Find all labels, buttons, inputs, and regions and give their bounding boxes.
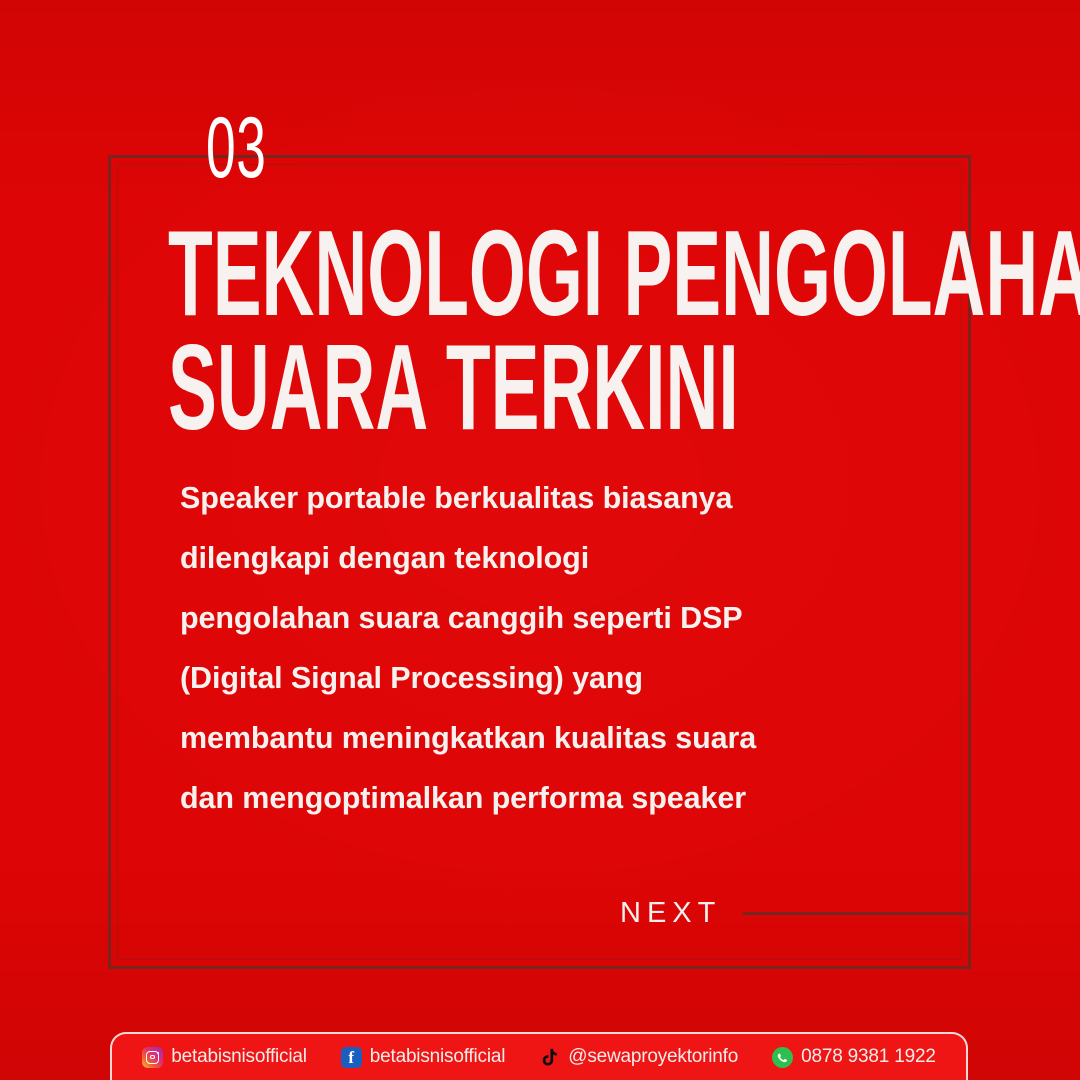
tiktok-icon bbox=[539, 1047, 560, 1068]
social-item-tiktok[interactable]: @sewaproyektorinfo bbox=[522, 1046, 755, 1068]
body-copy: Speaker portable berkualitas biasanya di… bbox=[180, 468, 920, 828]
body-line: Speaker portable berkualitas biasanya bbox=[180, 468, 920, 528]
headline-line-1: TEKNOLOGI PENGOLAHAN bbox=[168, 222, 660, 326]
body-line: membantu meningkatkan kualitas suara bbox=[180, 708, 920, 768]
facebook-icon: f bbox=[341, 1047, 362, 1068]
instagram-icon bbox=[142, 1047, 163, 1068]
social-item-facebook[interactable]: f betabisnisofficial bbox=[324, 1046, 522, 1068]
social-footer-bar: betabisnisofficial f betabisnisofficial … bbox=[110, 1032, 968, 1080]
next-divider-line bbox=[743, 912, 971, 915]
promo-slide: 03 TEKNOLOGI PENGOLAHAN SUARA TERKINI Sp… bbox=[0, 0, 1080, 1080]
page-title: TEKNOLOGI PENGOLAHAN SUARA TERKINI bbox=[168, 222, 988, 449]
body-line: pengolahan suara canggih seperti DSP bbox=[180, 588, 920, 648]
social-item-whatsapp[interactable]: 0878 9381 1922 bbox=[755, 1046, 953, 1068]
facebook-handle: betabisnisofficial bbox=[370, 1046, 505, 1068]
tiktok-handle: @sewaproyektorinfo bbox=[568, 1046, 738, 1068]
slide-number: 03 bbox=[206, 108, 267, 190]
body-line: dan mengoptimalkan performa speaker bbox=[180, 768, 920, 828]
body-line: dilengkapi dengan teknologi bbox=[180, 528, 920, 588]
whatsapp-number: 0878 9381 1922 bbox=[801, 1046, 936, 1068]
whatsapp-icon bbox=[772, 1047, 793, 1068]
headline-line-2: SUARA TERKINI bbox=[168, 336, 660, 440]
instagram-handle: betabisnisofficial bbox=[171, 1046, 306, 1068]
body-line: (Digital Signal Processing) yang bbox=[180, 648, 920, 708]
social-item-instagram[interactable]: betabisnisofficial bbox=[125, 1046, 323, 1068]
next-button-label: NEXT bbox=[620, 897, 721, 930]
next-button[interactable]: NEXT bbox=[620, 890, 971, 936]
